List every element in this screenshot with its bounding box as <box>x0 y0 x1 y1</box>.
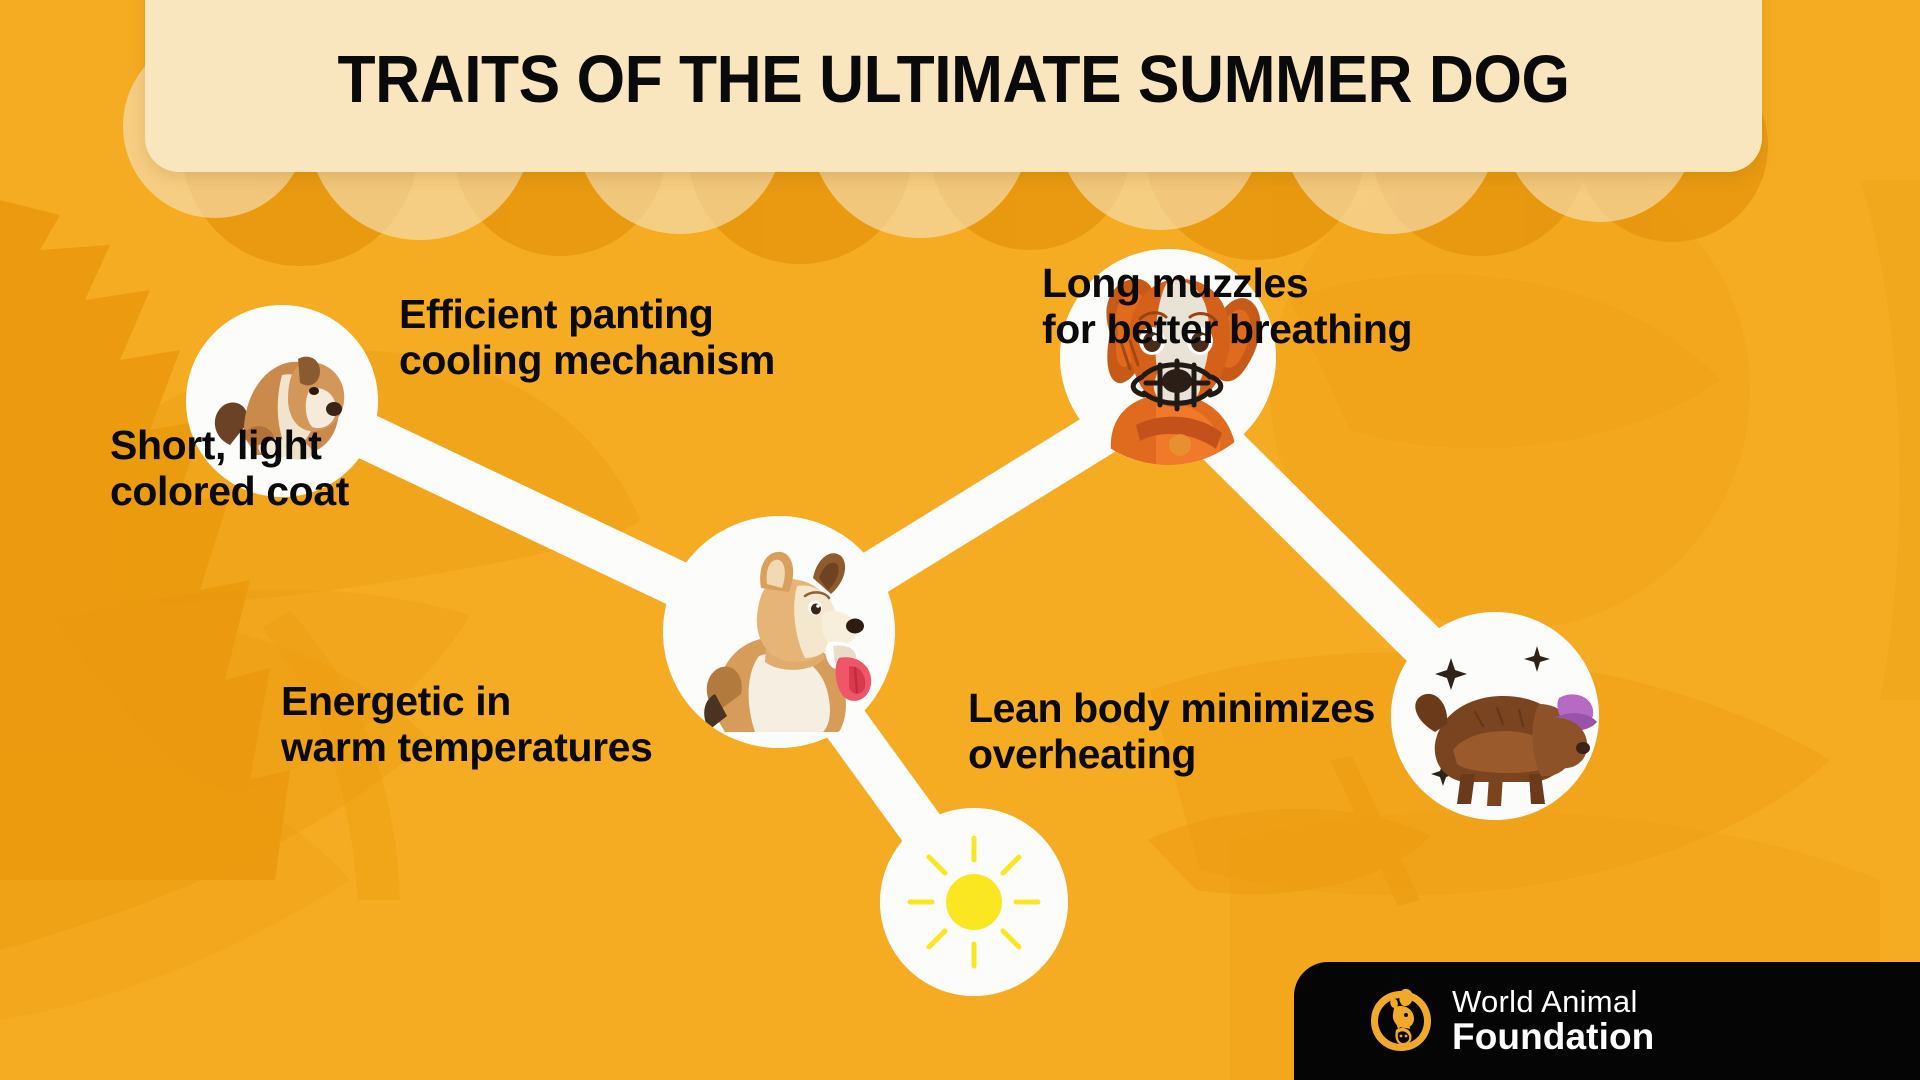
logo-badge[interactable]: World Animal Foundation <box>1294 962 1920 1080</box>
infographic-canvas: TRAITS OF THE ULTIMATE SUMMER DOG Short,… <box>0 0 1920 1080</box>
label-long-muzzles: Long muzzles for better breathing <box>1042 260 1542 353</box>
logo-line-foundation: Foundation <box>1452 1018 1654 1056</box>
dog-cat-circle-icon <box>1368 988 1434 1054</box>
label-lean-body: Lean body minimizes overheating <box>968 685 1488 778</box>
label-energetic-warm: Energetic in warm temperatures <box>281 678 731 771</box>
sun-icon <box>880 808 1068 996</box>
node-energetic-warm[interactable] <box>880 808 1068 996</box>
label-efficient-panting: Efficient panting cooling mechanism <box>399 291 879 384</box>
label-short-light-coat: Short, light colored coat <box>110 422 490 515</box>
logo-text-block: World Animal Foundation <box>1452 986 1654 1055</box>
logo-line-world-animal: World Animal <box>1452 986 1654 1018</box>
